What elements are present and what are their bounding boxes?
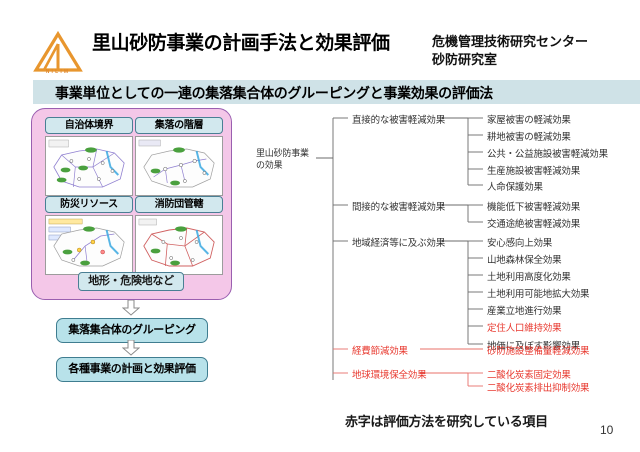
tree-leaf-label: 安心感向上効果 bbox=[487, 235, 552, 249]
page-number: 10 bbox=[600, 423, 613, 437]
tree-leaf-label: 産業立地進行効果 bbox=[487, 303, 561, 317]
tree-root-label: 里山砂防事業の効果 bbox=[256, 147, 316, 171]
down-arrow-icon-1 bbox=[122, 300, 140, 316]
slide: NILIM 里山砂防事業の計画手法と効果評価 危機管理技術研究センター 砂防研究… bbox=[0, 0, 640, 452]
subtitle-banner: 事業単位としての一連の集落集合体のグルーピングと事業効果の評価法 bbox=[33, 80, 640, 104]
red-text-note: 赤字は評価方法を研究している項目 bbox=[345, 411, 548, 430]
effects-tree: 里山砂防事業の効果 直接的な被害軽減効果 間接的な被害軽減効果 地域経済等に及ぶ… bbox=[240, 105, 640, 395]
tree-branch-label-economy: 地域経済等に及ぶ効果 bbox=[352, 235, 445, 249]
tree-branch-label-environment: 地球環境保全効果 bbox=[352, 367, 426, 381]
tree-leaf-label: 人命保護効果 bbox=[487, 179, 543, 193]
map-card-shuraku-kaisou[interactable]: 集落の階層 bbox=[135, 117, 223, 196]
flow-box-evaluation[interactable]: 各種事業の計画と効果評価 bbox=[56, 357, 208, 382]
tree-leaf-label: 家屋被害の軽減効果 bbox=[487, 112, 571, 126]
map-thumbnail-image bbox=[45, 136, 133, 196]
tree-leaf-label: 二酸化炭素排出抑制効果 bbox=[487, 380, 589, 394]
tree-branch-label-direct: 直接的な被害軽減効果 bbox=[352, 112, 445, 126]
tree-leaf-label: 砂防施設整備量軽減効果 bbox=[487, 343, 589, 357]
tree-leaf-label: 交通途絶被害軽減効果 bbox=[487, 216, 580, 230]
map-card-jichitai-kyokai[interactable]: 自治体境界 bbox=[45, 117, 133, 196]
map-card-label: 防災リソース bbox=[45, 196, 133, 213]
tree-leaf-label: 機能低下被害軽減効果 bbox=[487, 199, 580, 213]
map-thumbnail-image bbox=[135, 215, 223, 275]
tree-leaf-label: 定住人口維持効果 bbox=[487, 320, 561, 334]
tree-leaf-label: 二酸化炭素固定効果 bbox=[487, 367, 571, 381]
subtitle-text: 事業単位としての一連の集落集合体のグルーピングと事業効果の評価法 bbox=[55, 83, 493, 103]
terrain-hazard-label: 地形・危険地など bbox=[78, 272, 184, 291]
tree-leaf-label: 山地森林保全効果 bbox=[487, 252, 561, 266]
tree-leaf-label: 土地利用可能地拡大効果 bbox=[487, 286, 589, 300]
organization-name: 危機管理技術研究センター 砂防研究室 bbox=[432, 33, 632, 69]
map-card-shoubou-kankatsu[interactable]: 消防団管轄 bbox=[135, 196, 223, 275]
organization-line-2: 砂防研究室 bbox=[432, 51, 632, 69]
organization-line-1: 危機管理技術研究センター bbox=[432, 33, 632, 51]
page-title: 里山砂防事業の計画手法と効果評価 bbox=[92, 32, 427, 56]
logo-wordmark: NILIM bbox=[30, 69, 86, 75]
tree-leaf-label: 土地利用高度化効果 bbox=[487, 269, 571, 283]
tree-leaf-label: 公共・公益施設被害軽減効果 bbox=[487, 146, 608, 160]
map-thumbnail-image bbox=[45, 215, 133, 275]
map-card-bousai-resource[interactable]: 防災リソース bbox=[45, 196, 133, 275]
map-card-label: 消防団管轄 bbox=[135, 196, 223, 213]
tree-branch-label-indirect: 間接的な被害軽減効果 bbox=[352, 199, 445, 213]
map-card-label: 集落の階層 bbox=[135, 117, 223, 134]
map-card-label: 自治体境界 bbox=[45, 117, 133, 134]
tree-leaf-label: 耕地被害の軽減効果 bbox=[487, 129, 571, 143]
tree-branch-label-cost: 経費節減効果 bbox=[352, 343, 408, 357]
tree-leaf-label: 生産施設被害軽減効果 bbox=[487, 163, 580, 177]
map-thumbnail-image bbox=[135, 136, 223, 196]
down-arrow-icon-2 bbox=[122, 340, 140, 356]
